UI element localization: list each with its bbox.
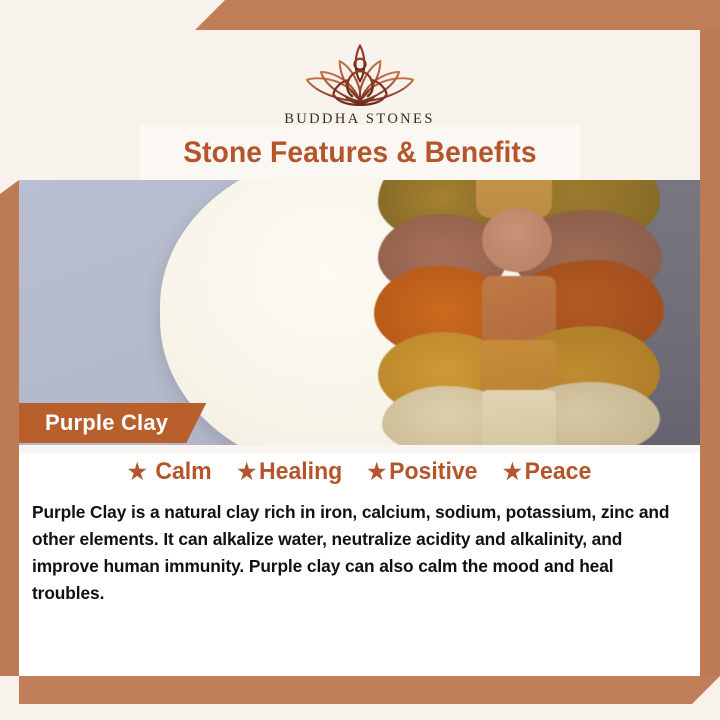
clay-sample-cream-square — [482, 390, 556, 445]
info-panel: ★ Calm ★ Healing ★ Positive ★ Peace Purp… — [19, 445, 700, 676]
left-accent-rail — [0, 180, 19, 676]
bottom-accent-band — [19, 676, 720, 706]
benefit-item-positive: ★ Positive — [367, 458, 477, 486]
benefit-item-peace: ★ Peace — [503, 458, 591, 486]
benefits-list: ★ Calm ★ Healing ★ Positive ★ Peace — [19, 458, 700, 486]
bottom-skirt — [0, 704, 720, 720]
top-accent-band — [195, 0, 720, 30]
benefit-item-healing: ★ Healing — [237, 458, 342, 486]
benefit-item-calm: ★ Calm — [128, 458, 212, 486]
brand-logo: BUDDHA STONES — [280, 36, 440, 128]
star-icon: ★ — [237, 461, 256, 483]
panel-top-tint — [19, 445, 700, 453]
page-title: Stone Features & Benefits — [183, 136, 536, 170]
benefit-label: Calm — [155, 458, 211, 486]
product-label-banner: Purple Clay — [19, 403, 206, 443]
lotus-meditation-icon — [280, 36, 440, 108]
product-description: Purple Clay is a natural clay rich in ir… — [32, 499, 677, 607]
infographic-card: BUDDHA STONES Stone Features & Benefits — [0, 0, 720, 720]
title-bar: Stone Features & Benefits — [140, 125, 580, 180]
ceramic-plate — [160, 180, 560, 445]
benefit-label: Peace — [524, 458, 591, 486]
star-icon: ★ — [367, 461, 386, 483]
right-accent-rail — [700, 30, 720, 676]
star-icon: ★ — [128, 461, 147, 483]
star-icon: ★ — [503, 461, 522, 483]
clay-sample-circle — [482, 208, 552, 272]
benefit-label: Healing — [259, 458, 342, 486]
product-label: Purple Clay — [45, 410, 168, 436]
benefit-label: Positive — [389, 458, 477, 486]
